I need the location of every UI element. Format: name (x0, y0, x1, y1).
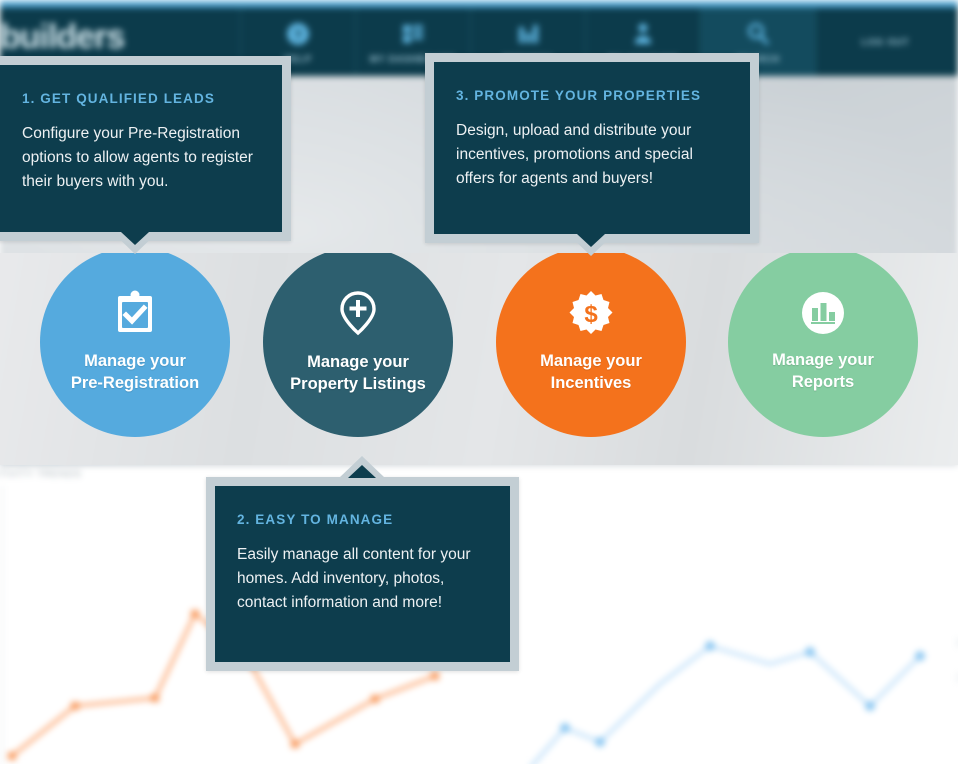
circle-pre-registration[interactable]: Manage your Pre-Registration (40, 253, 230, 437)
nav-item-log-out[interactable]: LOG OUT (815, 8, 955, 76)
trend-line-chart: 20 15 (500, 506, 958, 764)
circle-label-line1: Manage your (540, 350, 642, 372)
nav-item-label: LOG OUT (862, 37, 910, 47)
circle-label-line2: Property Listings (290, 373, 426, 395)
bar-chart-circle-icon (801, 291, 845, 340)
panel-subtitle: ACTIVITY TRENDS (0, 469, 82, 480)
circle-label-line2: Pre-Registration (71, 372, 199, 394)
magnifier-icon (745, 21, 771, 51)
tooltip-body: Configure your Pre-Registration options … (22, 122, 260, 194)
circle-incentives[interactable]: $ Manage your Incentives (496, 253, 686, 437)
tooltip-inner: 1. GET QUALIFIED LEADS Configure your Pr… (0, 65, 282, 218)
tooltip-promote-your-properties: 3. PROMOTE YOUR PROPERTIES Design, uploa… (425, 53, 759, 243)
tooltip-body: Easily manage all content for your homes… (237, 543, 488, 615)
tooltip-arrow-get-qualified-leads (112, 232, 158, 254)
question-mark-icon: ? (285, 21, 311, 51)
circle-label-line2: Incentives (551, 372, 632, 394)
svg-text:$: $ (584, 301, 598, 328)
tooltip-inner: 2. EASY TO MANAGE Easily manage all cont… (215, 486, 510, 639)
tooltip-body: Design, upload and distribute your incen… (456, 119, 728, 191)
tooltip-title: 2. EASY TO MANAGE (237, 512, 488, 527)
circle-label-line2: Reports (792, 371, 854, 393)
tooltip-arrow-easy-to-manage (339, 456, 385, 478)
dollar-badge-icon: $ (568, 290, 614, 341)
circle-property-listings[interactable]: Manage your Property Listings (263, 253, 453, 437)
circle-label-line1: Manage your (772, 349, 874, 371)
circle-label-line1: Manage your (307, 351, 409, 373)
svg-text:?: ? (293, 27, 302, 44)
user-icon (630, 21, 656, 51)
circle-reports[interactable]: Manage your Reports (728, 253, 918, 437)
tooltip-easy-to-manage: 2. EASY TO MANAGE Easily manage all cont… (206, 477, 519, 671)
manage-circles-band: Manage your Pre-Registration Manage your… (0, 253, 958, 465)
bar-chart-icon (515, 21, 541, 51)
circle-label-line1: Manage your (84, 350, 186, 372)
app-screenshot: builders ? HELP MY DASHBOARD (0, 0, 958, 764)
tooltip-title: 3. PROMOTE YOUR PROPERTIES (456, 88, 728, 103)
map-pin-plus-icon (337, 289, 379, 342)
tooltip-inner: 3. PROMOTE YOUR PROPERTIES Design, uploa… (434, 62, 750, 215)
tooltip-get-qualified-leads: 1. GET QUALIFIED LEADS Configure your Pr… (0, 56, 291, 241)
dashboard-grid-icon (400, 21, 426, 51)
clipboard-check-icon (114, 290, 156, 341)
tooltip-arrow-promote-your-properties (568, 234, 614, 256)
site-logo[interactable]: builders (0, 18, 124, 57)
tooltip-title: 1. GET QUALIFIED LEADS (22, 91, 260, 106)
